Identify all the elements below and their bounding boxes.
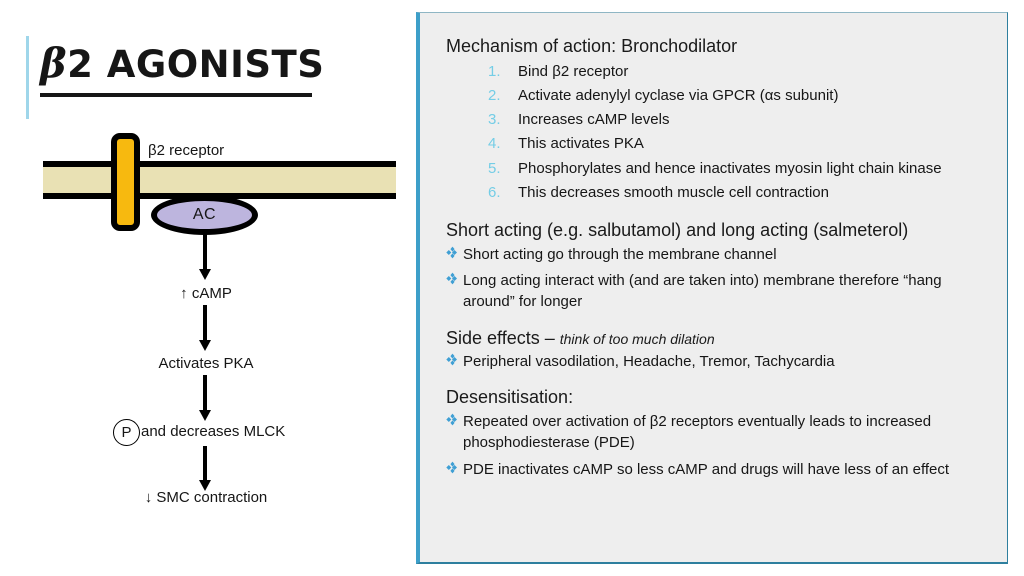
list-number: 4. bbox=[488, 132, 514, 156]
list-text: This activates PKA bbox=[518, 135, 644, 152]
phosphate-marker: P bbox=[113, 419, 140, 446]
flow-label-smc: ↓ SMC contraction bbox=[0, 489, 412, 506]
side-effects-heading-italic: think of too much dilation bbox=[560, 331, 715, 347]
list-item: 6. This decreases smooth muscle cell con… bbox=[446, 181, 993, 205]
title-beta-glyph: β bbox=[40, 40, 67, 87]
list-item: 2. Activate adenylyl cyclase via GPCR (α… bbox=[446, 84, 993, 108]
flow-arrow-1 bbox=[201, 234, 209, 280]
list-text: Phosphorylates and hence inactivates myo… bbox=[518, 160, 942, 177]
list-text: Increases cAMP levels bbox=[518, 111, 669, 128]
cell-membrane-graphic bbox=[43, 161, 396, 199]
list-item: Peripheral vasodilation, Headache, Tremo… bbox=[446, 351, 993, 372]
list-item: 4. This activates PKA bbox=[446, 132, 993, 156]
list-text: Activate adenylyl cyclase via GPCR (αs s… bbox=[518, 87, 838, 104]
flow-label-mlck: and decreases MLCK bbox=[141, 423, 285, 440]
mechanism-list: 1. Bind β2 receptor 2. Activate adenylyl… bbox=[446, 60, 993, 206]
flow-arrow-4 bbox=[201, 446, 209, 491]
list-text: Short acting go through the membrane cha… bbox=[463, 246, 777, 263]
list-item: PDE inactivates cAMP so less cAMP and dr… bbox=[446, 459, 993, 480]
diamond-bullet-icon bbox=[446, 353, 459, 366]
adenylyl-cyclase-graphic: AC bbox=[151, 195, 258, 235]
list-number: 6. bbox=[488, 181, 514, 205]
list-text: Bind β2 receptor bbox=[518, 63, 628, 80]
receptor-label: β2 receptor bbox=[148, 142, 224, 159]
acting-heading: Short acting (e.g. salbutamol) and long … bbox=[446, 219, 993, 242]
side-effects-list: Peripheral vasodilation, Headache, Tremo… bbox=[446, 351, 993, 372]
diamond-bullet-icon bbox=[446, 246, 459, 259]
list-number: 2. bbox=[488, 84, 514, 108]
list-number: 1. bbox=[488, 60, 514, 84]
diamond-bullet-icon bbox=[446, 413, 459, 426]
list-number: 3. bbox=[488, 108, 514, 132]
list-text: PDE inactivates cAMP so less cAMP and dr… bbox=[463, 461, 949, 478]
list-item: 3. Increases cAMP levels bbox=[446, 108, 993, 132]
flow-label-camp: ↑ cAMP bbox=[0, 285, 412, 302]
title-accent-bar bbox=[26, 36, 29, 119]
list-text: This decreases smooth muscle cell contra… bbox=[518, 184, 829, 201]
list-item: Long acting interact with (and are taken… bbox=[446, 270, 993, 313]
content-panel: Mechanism of action: Bronchodilator 1. B… bbox=[416, 12, 1008, 564]
list-item: 5. Phosphorylates and hence inactivates … bbox=[446, 157, 993, 181]
beta2-receptor-graphic bbox=[111, 133, 140, 231]
list-item: 1. Bind β2 receptor bbox=[446, 60, 993, 84]
title-text: 2 AGONISTS bbox=[67, 43, 324, 86]
mechanism-heading: Mechanism of action: Bronchodilator bbox=[446, 35, 993, 58]
list-text: Repeated over activation of β2 receptors… bbox=[463, 413, 931, 451]
list-text: Peripheral vasodilation, Headache, Tremo… bbox=[463, 353, 835, 370]
title-underline bbox=[40, 93, 312, 97]
flow-arrow-2 bbox=[201, 305, 209, 351]
diamond-bullet-icon bbox=[446, 461, 459, 474]
list-number: 5. bbox=[488, 157, 514, 181]
list-item: Short acting go through the membrane cha… bbox=[446, 244, 993, 265]
diamond-bullet-icon bbox=[446, 272, 459, 285]
adenylyl-cyclase-label: AC bbox=[193, 206, 216, 224]
flow-label-pka: Activates PKA bbox=[0, 355, 412, 372]
flow-arrow-3 bbox=[201, 375, 209, 421]
side-effects-heading-main: Side effects – bbox=[446, 328, 560, 348]
desensitisation-list: Repeated over activation of β2 receptors… bbox=[446, 411, 993, 480]
desensitisation-heading: Desensitisation: bbox=[446, 386, 993, 409]
acting-list: Short acting go through the membrane cha… bbox=[446, 244, 993, 313]
diagram-column: β2 AGONISTS β2 receptor AC ↑ cAMP Activa… bbox=[0, 0, 412, 576]
side-effects-heading: Side effects – think of too much dilatio… bbox=[446, 327, 993, 350]
page-title: β2 AGONISTS bbox=[40, 44, 324, 84]
list-text: Long acting interact with (and are taken… bbox=[463, 272, 942, 310]
list-item: Repeated over activation of β2 receptors… bbox=[446, 411, 993, 454]
